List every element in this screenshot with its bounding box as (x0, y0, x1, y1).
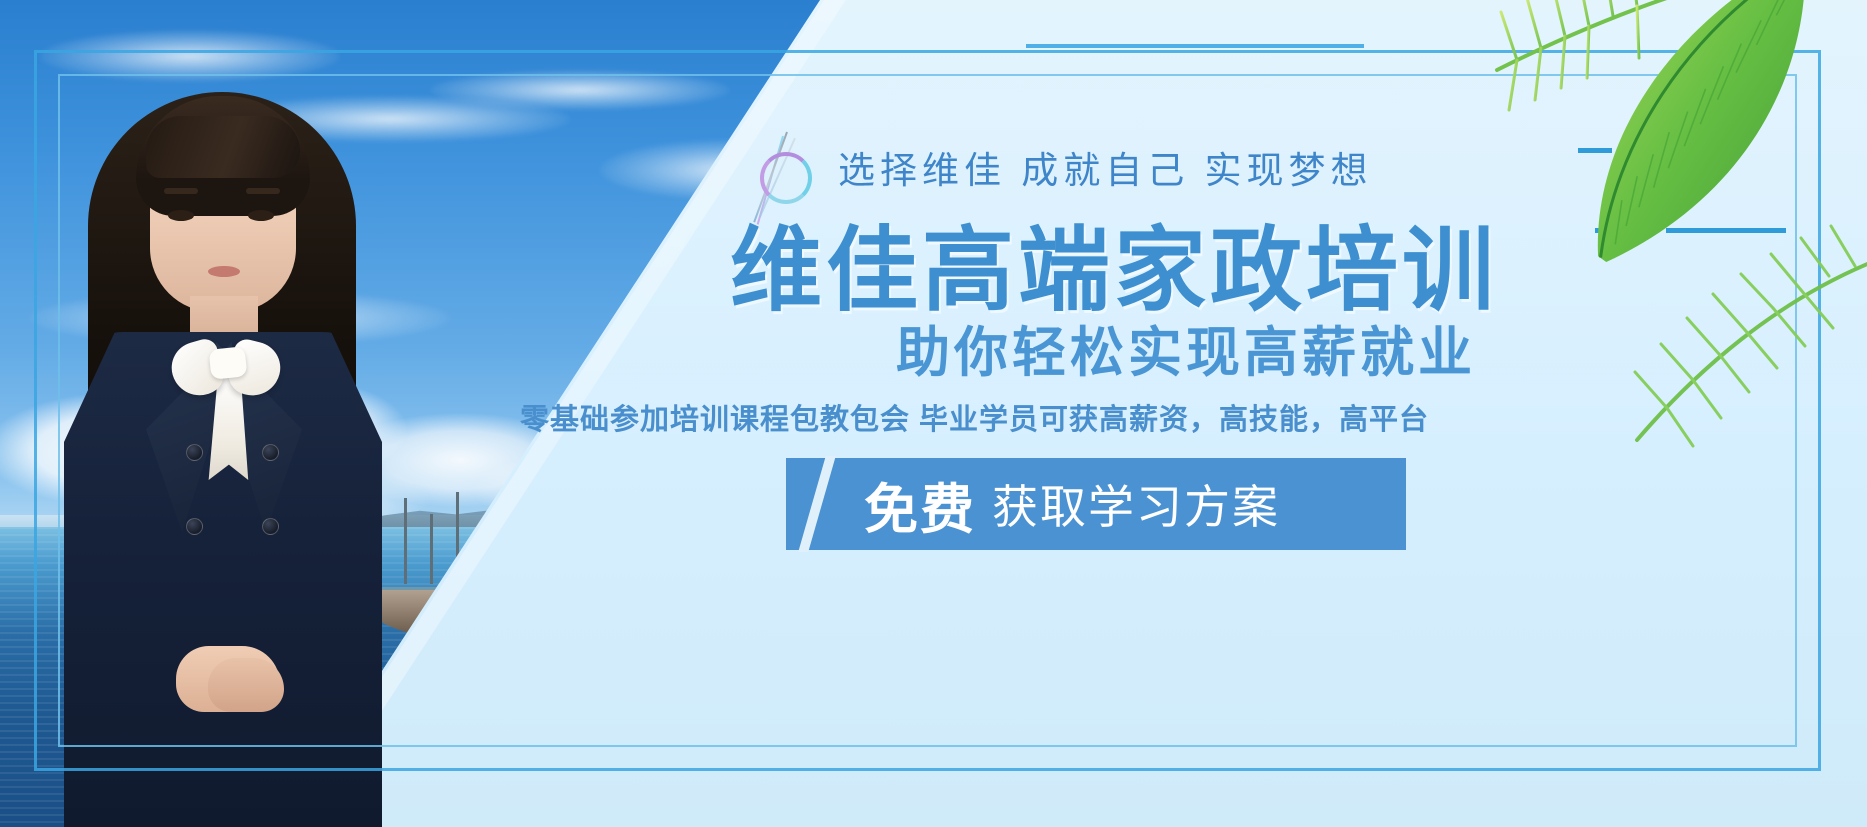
cta-label: 获取学习方案 (992, 471, 1280, 537)
slash-accent-icon (798, 456, 836, 552)
free-study-plan-cta-button[interactable]: 免费 获取学习方案 (786, 458, 1406, 550)
tagline: 选择维佳 成就自己 实现梦想 (838, 140, 1373, 194)
top-accent-line (1026, 44, 1364, 48)
body-description: 零基础参加培训课程包教包会 毕业学员可获高薪资，高技能，高平台 (520, 396, 1429, 438)
palm-leaf-decoration (1627, 150, 1867, 450)
subheadline: 助你轻松实现高薪就业 (896, 308, 1476, 387)
cta-emphasis-label: 免费 (864, 465, 976, 544)
promo-banner: 选择维佳 成就自己 实现梦想 维佳高端家政培训 助你轻松实现高薪就业 零基础参加… (0, 0, 1867, 827)
